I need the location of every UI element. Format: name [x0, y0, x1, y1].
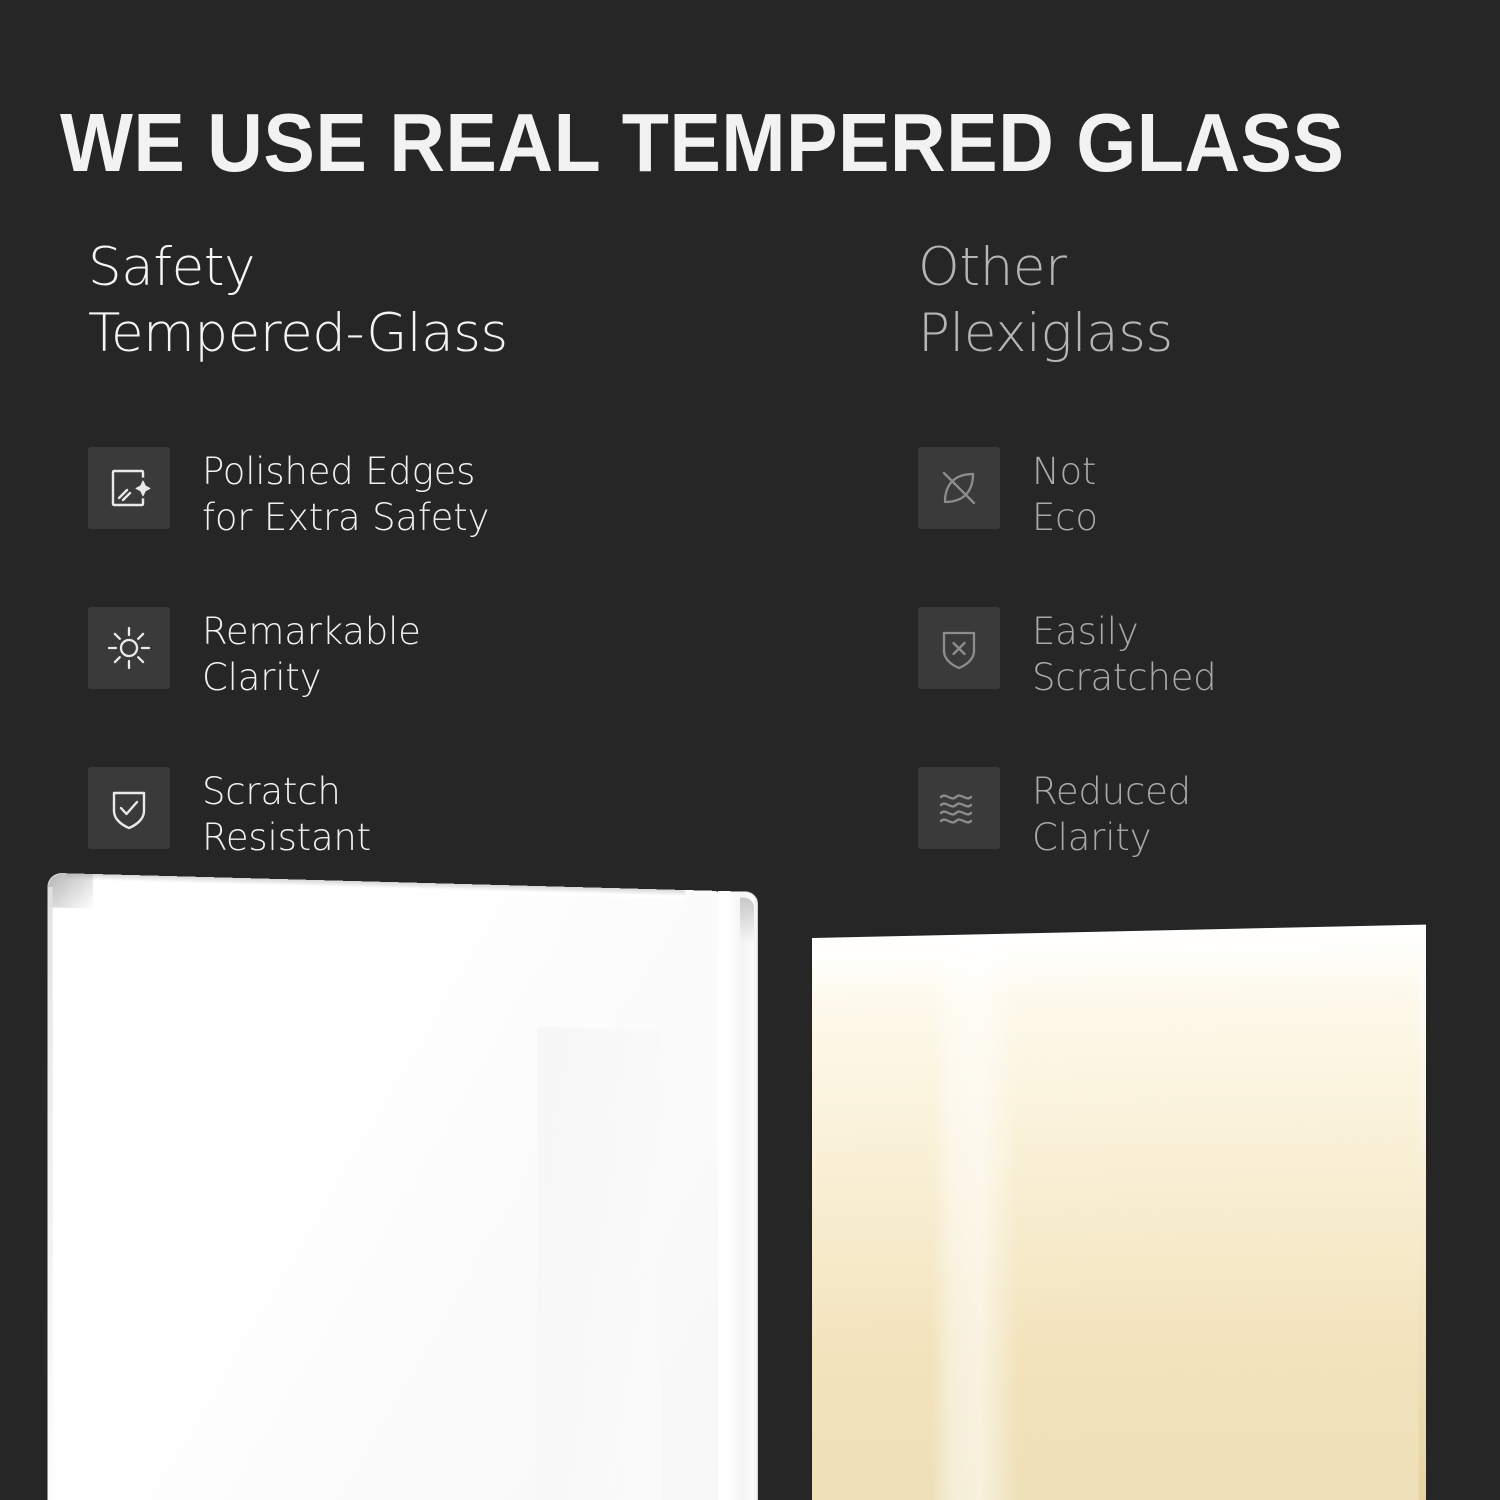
tempered-glass-top-highlight — [62, 873, 686, 899]
feature-item: Reduced Clarity — [918, 767, 1500, 861]
tempered-glass-left-edge — [48, 887, 53, 1500]
feature-label: Scratch Resistant — [202, 767, 371, 861]
feature-item: Remarkable Clarity — [88, 607, 708, 701]
tempered-glass-reflection — [537, 1027, 662, 1500]
tempered-glass-panel — [48, 873, 758, 1500]
feature-label: Remarkable Clarity — [202, 607, 421, 701]
feature-label: Reduced Clarity — [1032, 767, 1191, 861]
plexiglass-top-highlight — [812, 925, 1420, 1002]
plexiglass-panel — [812, 925, 1420, 1500]
feature-list-tempered-glass: Polished Edges for Extra Safety — [88, 447, 708, 861]
feature-list-plexiglass: Not Eco Easily Scratched — [918, 447, 1500, 861]
product-photo-area — [0, 870, 1500, 1500]
leaf-slash-icon — [918, 447, 1000, 529]
tempered-glass-left-corner — [48, 873, 93, 909]
column-tempered-glass: Safety Tempered-Glass Polished Edges for… — [88, 235, 708, 861]
column-title-tempered-glass: Safety Tempered-Glass — [88, 235, 708, 367]
tempered-glass-edge-highlight — [740, 898, 754, 944]
feature-item: Scratch Resistant — [88, 767, 708, 861]
page-title: WE USE REAL TEMPERED GLASS — [60, 96, 1353, 190]
column-plexiglass: Other Plexiglass Not Eco — [918, 235, 1500, 861]
feature-item: Easily Scratched — [918, 607, 1500, 701]
tempered-glass-polished-edge — [718, 891, 758, 1500]
column-title-plexiglass: Other Plexiglass — [918, 235, 1500, 367]
plexiglass-sheen — [932, 933, 1019, 1500]
tempered-glass-face — [48, 873, 723, 1500]
shield-check-icon — [88, 767, 170, 849]
feature-label: Easily Scratched — [1032, 607, 1216, 701]
shield-x-icon — [918, 607, 1000, 689]
feature-label: Not Eco — [1032, 447, 1098, 541]
feature-label: Polished Edges for Extra Safety — [202, 447, 489, 541]
feature-item: Polished Edges for Extra Safety — [88, 447, 708, 541]
glass-pane-sparkle-icon — [88, 447, 170, 529]
comparison-columns: Safety Tempered-Glass Polished Edges for… — [0, 235, 1500, 875]
wavy-lines-icon — [918, 767, 1000, 849]
plexiglass-right-edge — [1419, 925, 1426, 1500]
tempered-glass-comparison-infographic: WE USE REAL TEMPERED GLASS Safety Temper… — [0, 0, 1500, 1500]
feature-item: Not Eco — [918, 447, 1500, 541]
sun-brightness-icon — [88, 607, 170, 689]
